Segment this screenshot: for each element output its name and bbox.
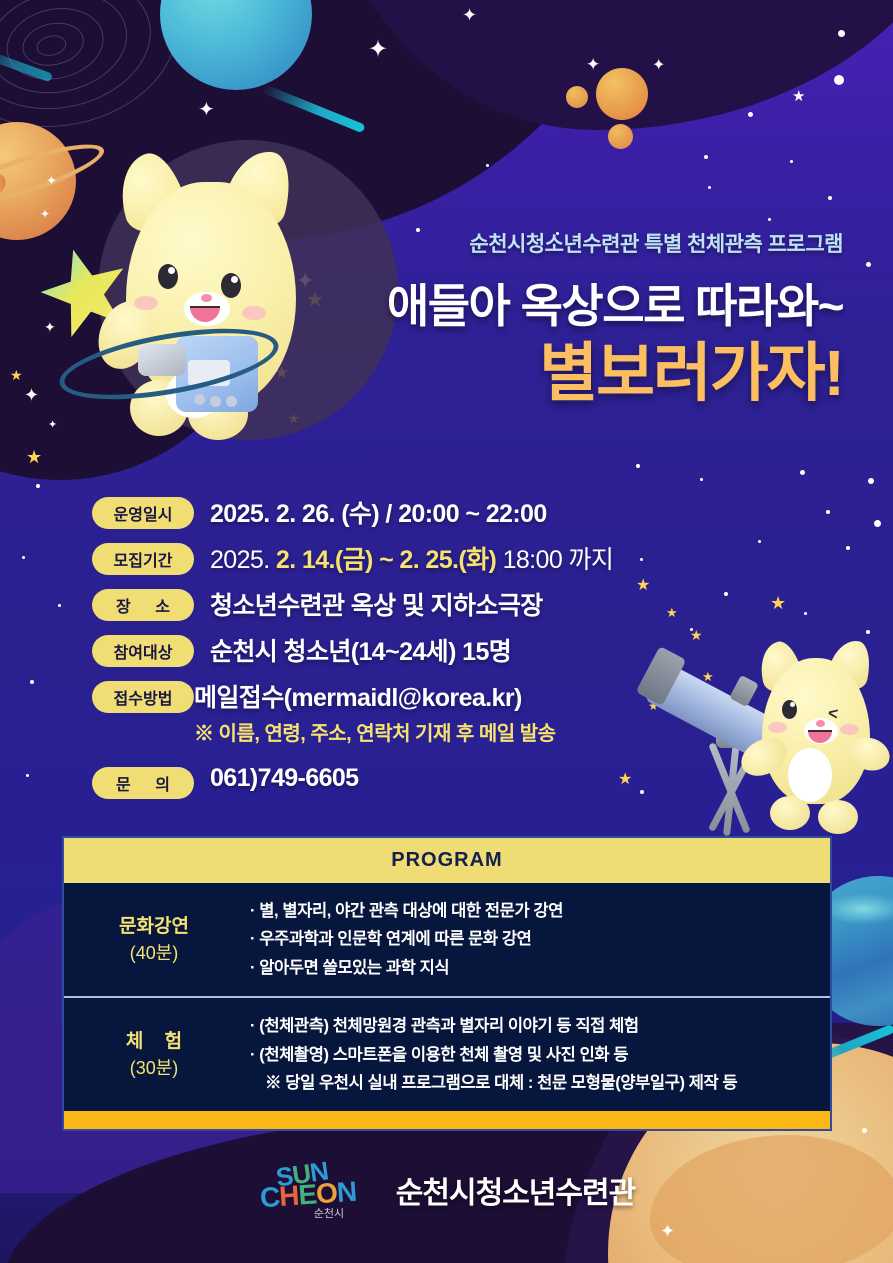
poster-title-line1: 애들아 옥상으로 따라와~	[0, 270, 843, 336]
yellow-star-icon: ★	[26, 448, 42, 466]
star-dot	[22, 556, 25, 559]
program-row-experience: 체 험 (30분) · (천체관측) 천체망원경 관측과 별자리 이야기 등 직…	[64, 996, 830, 1111]
orange-planet-tiny	[608, 124, 633, 149]
mascot2-eye-open	[782, 700, 797, 719]
info-row-apply-method: 접수방법 메일접수(mermaidl@korea.kr) ※ 이름, 연령, 주…	[92, 678, 613, 746]
mascot2-cheek-left	[768, 722, 787, 733]
orange-planet-small	[566, 86, 588, 108]
program-experience-item: · (천체관측) 천체망원경 관측과 별자리 이야기 등 직접 체험	[250, 1012, 820, 1040]
info-value-location: 청소년수련관 옥상 및 지하소극장	[210, 586, 543, 622]
cat-mascot-winking: <	[744, 644, 893, 854]
star-dot	[700, 478, 703, 481]
program-row-lecture-title-cell: 문화강연 (40분)	[64, 883, 244, 996]
sparkle-star-icon: ✦	[586, 56, 600, 73]
info-label-audience: 참여대상	[92, 635, 194, 667]
sparkle-star-icon: ✦	[368, 38, 388, 62]
program-lecture-item: · 알아두면 쓸모있는 과학 지식	[250, 954, 820, 982]
star-dot	[838, 30, 845, 37]
star-dot	[868, 478, 874, 484]
poster-subtitle: 순천시청소년수련관 특별 천체관측 프로그램	[0, 228, 843, 258]
program-lecture-item: · 우주과학과 인문학 연계에 따른 문화 강연	[250, 925, 820, 953]
program-table-heading: PROGRAM	[64, 838, 830, 883]
period-highlight: 2. 14.(금) ~ 2. 25.(화)	[276, 546, 496, 574]
poster-title-line2: 별보러가자!	[0, 338, 843, 408]
orange-planet-large	[596, 68, 648, 120]
program-experience-title: 체 험	[118, 1028, 190, 1056]
info-value-audience: 순천시 청소년(14~24세) 15명	[210, 632, 511, 668]
star-dot	[724, 592, 728, 596]
info-row-date: 운영일시 2025. 2. 26. (수) / 20:00 ~ 22:00	[92, 494, 613, 530]
star-dot	[30, 680, 34, 684]
star-dot	[834, 75, 844, 85]
info-row-contact: 문 의 061)749-6605	[92, 764, 613, 799]
info-label-application-period: 모집기간	[92, 543, 194, 575]
info-label-contact: 문 의	[92, 767, 194, 799]
header-block: 순천시청소년수련관 특별 천체관측 프로그램 애들아 옥상으로 따라와~ 별보러…	[0, 228, 893, 408]
event-info-list: 운영일시 2025. 2. 26. (수) / 20:00 ~ 22:00 모집…	[92, 494, 613, 809]
sparkle-star-icon: ★	[792, 89, 805, 104]
program-row-lecture-items: · 별, 별자리, 야간 관측 대상에 대한 전문가 강연 · 우주과학과 인문…	[244, 883, 830, 996]
sparkle-star-icon: ✦	[462, 6, 477, 24]
star-dot	[846, 546, 850, 550]
program-table-footer-bar	[64, 1111, 830, 1129]
sparkle-star-icon: ✦	[660, 1222, 675, 1240]
sparkle-star-icon: ✦	[652, 58, 665, 74]
star-dot	[828, 196, 832, 200]
star-dot	[768, 218, 771, 221]
program-experience-item: · (천체촬영) 스마트폰을 이용한 천체 촬영 및 사진 인화 등	[250, 1041, 820, 1069]
star-dot	[58, 604, 61, 607]
mascot2-tummy	[788, 748, 832, 802]
star-dot	[874, 520, 881, 527]
star-dot	[708, 186, 711, 189]
period-suffix: 18:00 까지	[496, 546, 613, 574]
info-value-date: 2025. 2. 26. (수) / 20:00 ~ 22:00	[210, 494, 547, 530]
yellow-star-icon: ★	[636, 578, 650, 594]
star-dot	[486, 164, 489, 167]
poster-footer: SUN CHEON 순천시 순천시청소년수련관	[0, 1159, 893, 1221]
period-prefix: 2025.	[210, 546, 276, 574]
star-dot	[640, 558, 643, 561]
star-dot	[862, 1128, 867, 1133]
star-dot	[826, 510, 830, 514]
logo-caption: 순천시	[314, 1205, 344, 1221]
mascot2-foot-right	[818, 800, 858, 834]
info-row-application-period: 모집기간 2025. 2. 14.(금) ~ 2. 25.(화) 18:00 까…	[92, 540, 613, 576]
yellow-star-icon: ★	[770, 594, 786, 612]
program-table-body: 문화강연 (40분) · 별, 별자리, 야간 관측 대상에 대한 전문가 강연…	[64, 883, 830, 1111]
suncheon-city-logo: SUN CHEON 순천시	[258, 1159, 382, 1221]
sparkle-star-icon: ✦	[198, 100, 215, 120]
star-dot	[790, 160, 793, 163]
organization-name: 순천시청소년수련관	[396, 1168, 635, 1212]
info-label-location: 장 소	[92, 589, 194, 621]
star-dot	[748, 112, 753, 117]
star-dot	[26, 774, 29, 777]
program-table: PROGRAM 문화강연 (40분) · 별, 별자리, 야간 관측 대상에 대…	[62, 836, 832, 1131]
star-dot	[866, 630, 870, 634]
program-row-lecture: 문화강연 (40분) · 별, 별자리, 야간 관측 대상에 대한 전문가 강연…	[64, 883, 830, 996]
info-value-contact: 061)749-6605	[210, 764, 359, 793]
program-row-experience-title-cell: 체 험 (30분)	[64, 998, 244, 1111]
program-experience-duration: (30분)	[130, 1055, 179, 1081]
info-row-audience: 참여대상 순천시 청소년(14~24세) 15명	[92, 632, 613, 668]
mascot2-cheek-right	[840, 724, 859, 735]
star-dot	[636, 464, 640, 468]
info-value-apply-method: 메일접수(mermaidl@korea.kr)	[194, 678, 556, 714]
star-dot	[704, 155, 708, 159]
star-dot	[800, 470, 805, 475]
star-dot	[804, 612, 807, 615]
star-dot	[36, 484, 40, 488]
program-row-experience-items: · (천체관측) 천체망원경 관측과 별자리 이야기 등 직접 체험 · (천체…	[244, 998, 830, 1111]
star-dot	[640, 790, 644, 794]
info-label-date: 운영일시	[92, 497, 194, 529]
program-lecture-duration: (40분)	[130, 940, 179, 966]
program-lecture-title: 문화강연	[119, 913, 189, 941]
program-experience-note: ※ 당일 우천시 실내 프로그램으로 대체 : 천문 모형물(양부일구) 제작 …	[250, 1069, 820, 1097]
mascot2-nose	[816, 720, 825, 727]
info-row-location: 장 소 청소년수련관 옥상 및 지하소극장	[92, 586, 613, 622]
poster-canvas: ✦ ✦ ✦ ✦ ✦ ★ ✦ ✦ ✦ ✦ ✦ ✦ ✦ ★ ★ ★ ★ ★ ★ ★ …	[0, 0, 893, 1263]
apply-method-note: ※ 이름, 연령, 주소, 연락처 기재 후 메일 발송	[194, 717, 556, 746]
info-label-apply-method: 접수방법	[92, 681, 194, 713]
star-dot	[758, 540, 761, 543]
program-lecture-item: · 별, 별자리, 야간 관측 대상에 대한 전문가 강연	[250, 897, 820, 925]
yellow-star-icon: ★	[618, 772, 632, 788]
apply-method-block: 메일접수(mermaidl@korea.kr) ※ 이름, 연령, 주소, 연락…	[194, 678, 556, 746]
info-value-application-period: 2025. 2. 14.(금) ~ 2. 25.(화) 18:00 까지	[210, 540, 613, 576]
yellow-star-icon: ★	[666, 606, 678, 619]
